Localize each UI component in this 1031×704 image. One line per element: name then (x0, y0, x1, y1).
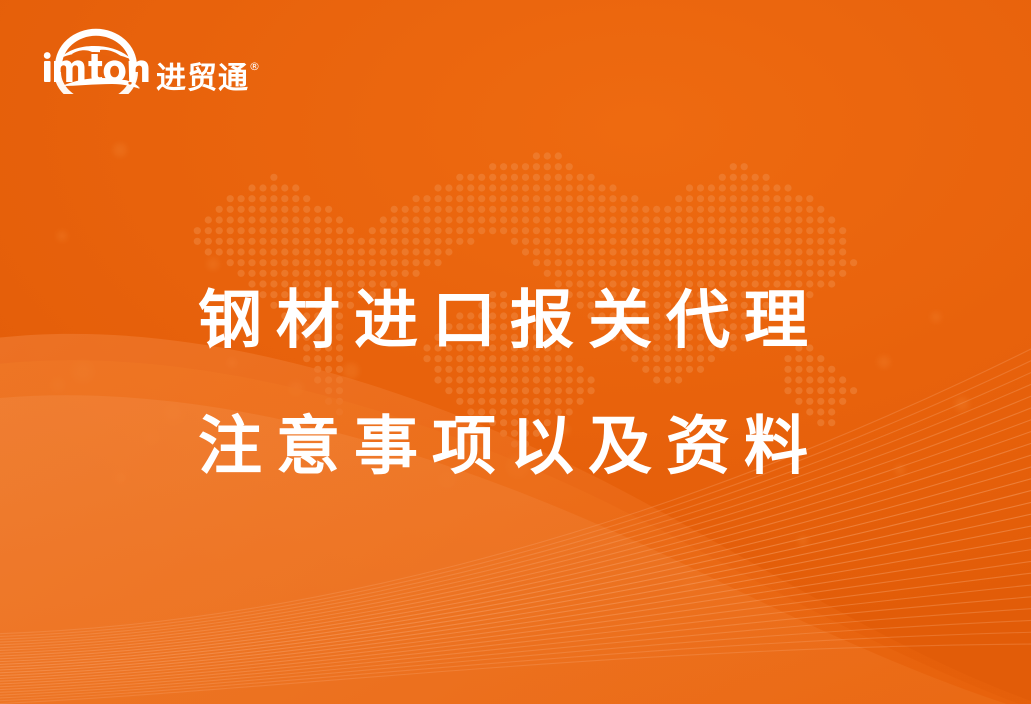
brand-chinese-text: 进贸通 (156, 61, 249, 96)
globe-swoosh-icon (42, 28, 150, 94)
headline-line-1: 钢材进口报关代理 (198, 258, 898, 384)
banner-root: 进贸通 ® 钢材进口报关代理 注意事项以及资料 (0, 0, 1031, 704)
headline-block: 钢材进口报关代理 注意事项以及资料 (198, 258, 898, 510)
registered-trademark-icon: ® (249, 61, 261, 72)
brand-logo[interactable]: 进贸通 ® (42, 28, 261, 94)
headline-line-2: 注意事项以及资料 (198, 384, 898, 510)
brand-chinese-wordmark: 进贸通 ® (156, 64, 261, 94)
